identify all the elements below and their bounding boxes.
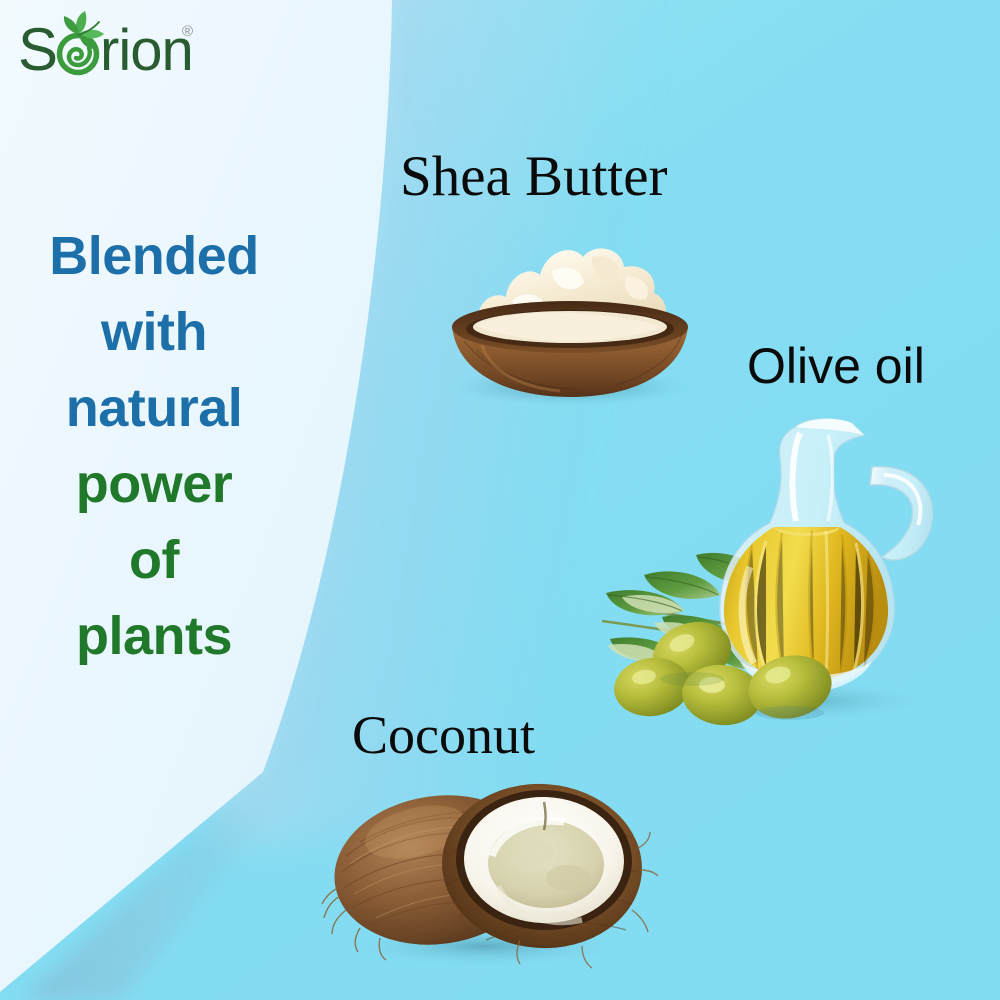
shea-butter-bowl-photo xyxy=(420,205,720,420)
svg-text:S: S xyxy=(18,16,58,83)
leaf-swirl-icon: S rion xyxy=(14,8,224,86)
headline-line-3: natural xyxy=(6,370,302,446)
ingredient-label-shea-butter: Shea Butter xyxy=(400,148,668,205)
promo-graphic: S rion ® Blended with natural power of xyxy=(0,0,1000,1000)
headline-line-6: plants xyxy=(6,598,302,674)
coconut-photo xyxy=(320,760,650,975)
glass-cruet xyxy=(720,419,932,693)
svg-text:rion: rion xyxy=(100,18,193,83)
olive-oil-cruet-photo xyxy=(600,405,960,730)
ingredient-label-olive-oil: Olive oil xyxy=(747,341,925,391)
headline-line-4: power xyxy=(6,446,302,522)
registered-trademark-symbol: ® xyxy=(182,24,193,39)
headline: Blended with natural power of plants xyxy=(6,218,302,674)
headline-line-1: Blended xyxy=(6,218,302,294)
headline-line-5: of xyxy=(6,522,302,598)
ingredient-label-coconut: Coconut xyxy=(352,708,535,762)
brand-logo[interactable]: S rion ® xyxy=(14,8,224,86)
headline-line-2: with xyxy=(6,294,302,370)
